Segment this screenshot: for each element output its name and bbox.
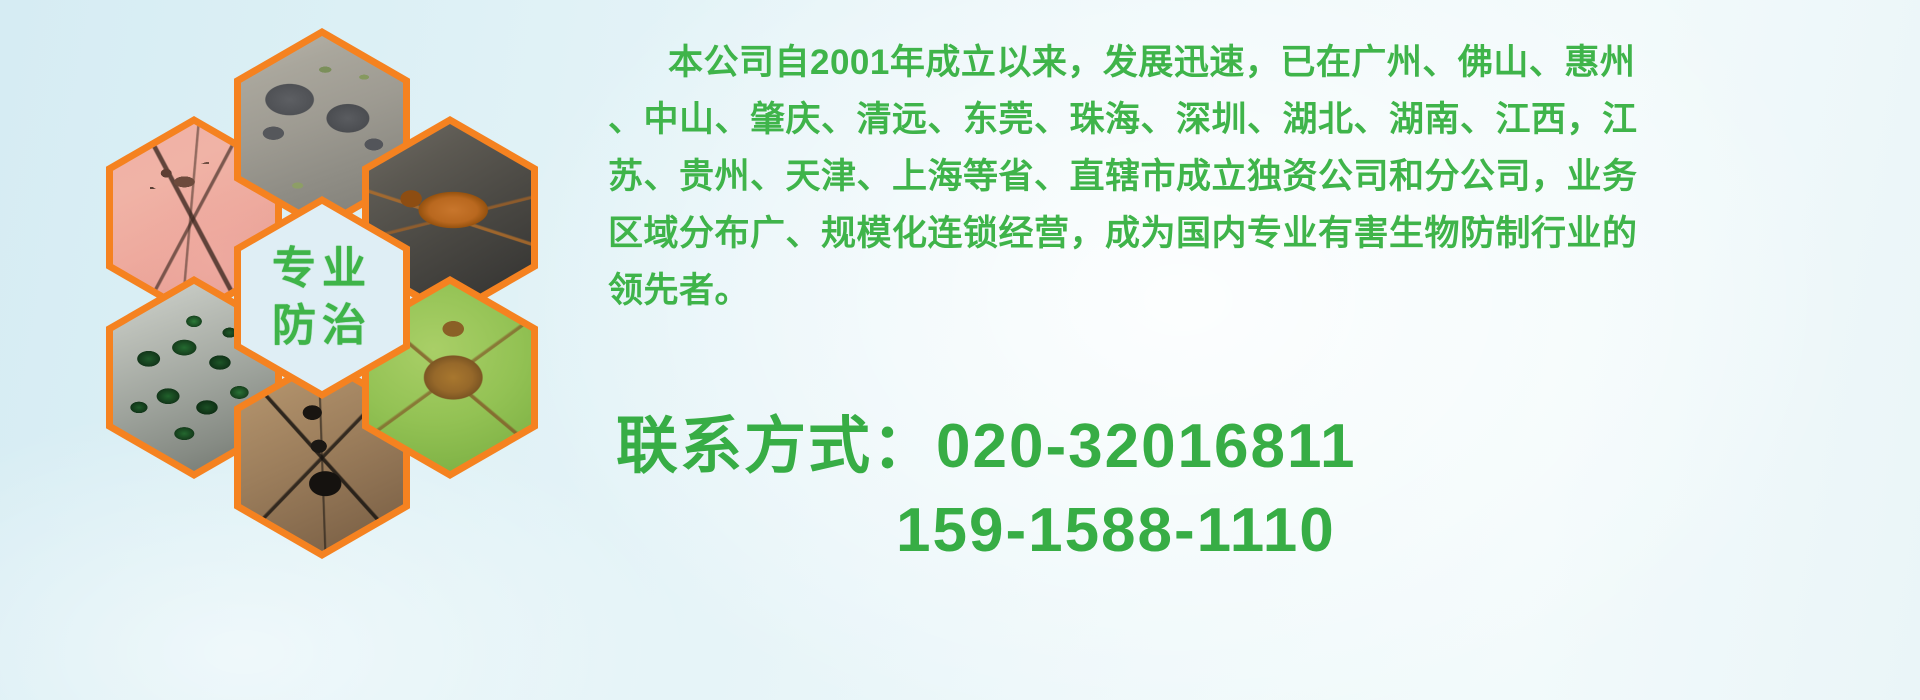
slogan-line-1: 专业 — [272, 241, 372, 297]
contact-line-landline: 联系方式：020-32016811 — [616, 405, 1906, 489]
intro-line-2: 、中山、肇庆、清远、东莞、珠海、深圳、湖北、湖南、江西，江 — [608, 91, 1908, 148]
contact-block: 联系方式：020-32016811 159-1588-1110 — [616, 405, 1906, 573]
slogan-text: 专业 防治 — [272, 241, 372, 354]
honeycomb-cluster: 专业 防治 — [84, 8, 604, 568]
contact-line-mobile: 159-1588-1110 — [616, 489, 1906, 573]
intro-line-1: 本公司自2001年成立以来，发展迅速，已在广州、佛山、惠州 — [608, 34, 1908, 91]
intro-line-3: 苏、贵州、天津、上海等省、直辖市成立独资公司和分公司，业务 — [608, 148, 1908, 205]
contact-phone-mobile[interactable]: 159-1588-1110 — [896, 496, 1336, 565]
contact-label: 联系方式： — [616, 412, 936, 481]
contact-phone-landline[interactable]: 020-32016811 — [936, 412, 1357, 481]
intro-line-4: 区域分布广、规模化连锁经营，成为国内专业有害生物防制行业的 — [608, 205, 1908, 262]
hex-inner-slogan: 专业 防治 — [241, 204, 403, 391]
banner-root: 专业 防治 本公司自2001年成立以来，发展迅速，已在广州、佛山、惠州 、中山、… — [0, 0, 1920, 700]
company-intro-paragraph: 本公司自2001年成立以来，发展迅速，已在广州、佛山、惠州 、中山、肇庆、清远、… — [608, 34, 1908, 319]
intro-line-5: 领先者。 — [608, 262, 1908, 319]
slogan-line-2: 防治 — [272, 298, 372, 354]
